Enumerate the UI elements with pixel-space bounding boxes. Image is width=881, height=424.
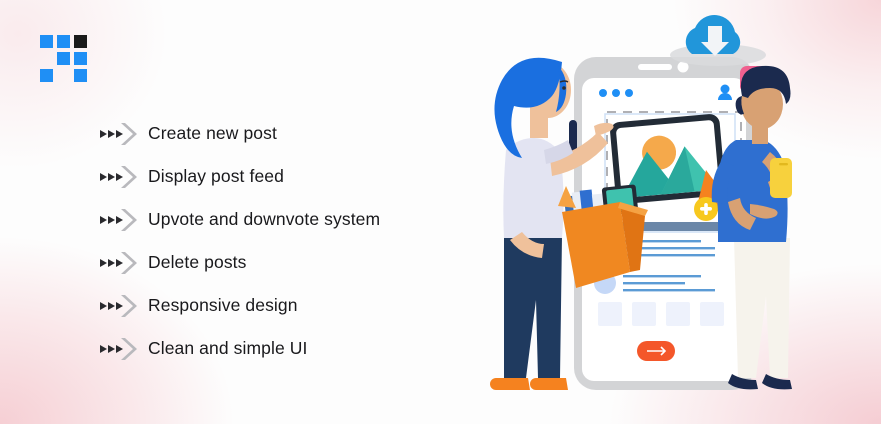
feature-label: Delete posts	[142, 252, 246, 273]
menu-dots-icon	[599, 89, 633, 97]
tile-1	[632, 302, 656, 326]
feature-label: Responsive design	[142, 295, 298, 316]
logo-tile-r1c2	[74, 52, 87, 65]
page-canvas: Create new post Display post feed Upvote…	[0, 0, 881, 424]
feature-label: Upvote and downvote system	[142, 209, 380, 230]
shoe-right	[530, 378, 568, 390]
tile-3	[700, 302, 724, 326]
logo-tile-r0c0	[40, 35, 53, 48]
triple-triangle-chevron-icon	[96, 293, 142, 319]
logo-tile-r0c2	[74, 35, 87, 48]
cta-button	[637, 341, 675, 361]
tile-0	[598, 302, 622, 326]
feature-item-4: Responsive design	[96, 284, 496, 327]
triple-triangle-chevron-icon	[96, 336, 142, 362]
tile-2	[666, 302, 690, 326]
feature-list: Create new post Display post feed Upvote…	[96, 112, 496, 370]
logo-tile-r2c0	[40, 69, 53, 82]
triple-triangle-chevron-icon	[96, 250, 142, 276]
logo-tile-r2c2	[74, 69, 87, 82]
phone-speaker	[638, 64, 672, 70]
shoe-left	[490, 378, 530, 390]
cloud-download-icon	[670, 15, 766, 66]
triple-triangle-chevron-icon	[96, 164, 142, 190]
logo-tile-r1c1	[57, 52, 70, 65]
logo-tile-r0c1	[57, 35, 70, 48]
feature-label: Create new post	[142, 123, 277, 144]
triple-triangle-chevron-icon	[96, 121, 142, 147]
triple-triangle-chevron-icon	[96, 207, 142, 233]
feature-item-3: Delete posts	[96, 241, 496, 284]
feature-item-5: Clean and simple UI	[96, 327, 496, 370]
feature-item-2: Upvote and downvote system	[96, 198, 496, 241]
feature-label: Clean and simple UI	[142, 338, 307, 359]
feature-label: Display post feed	[142, 166, 284, 187]
social-app-illustration	[470, 0, 881, 424]
feature-item-0: Create new post	[96, 112, 496, 155]
feature-item-1: Display post feed	[96, 155, 496, 198]
grid-logo[interactable]	[40, 35, 86, 81]
